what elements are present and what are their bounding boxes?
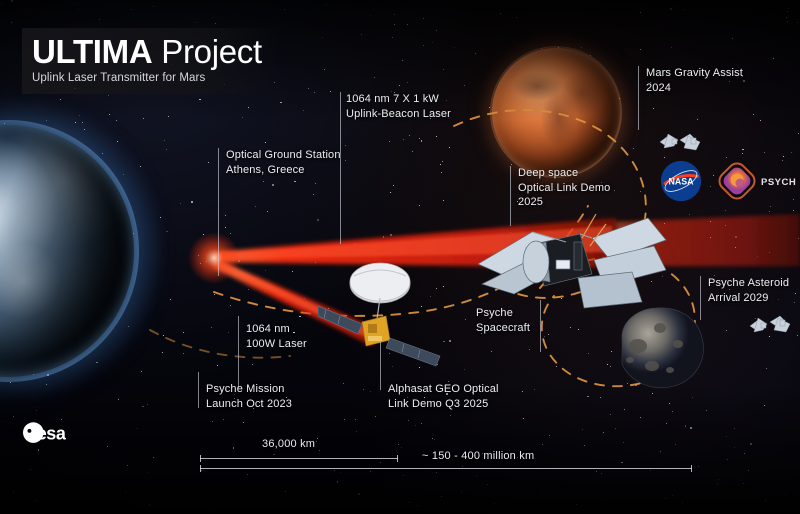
psyche-asteroid-model: [604, 300, 712, 396]
psyche-logo: PSYCHE: [716, 160, 796, 202]
infographic-canvas: ULTIMA Project Uplink Laser Transmitter …: [0, 0, 800, 514]
callout-mars-gravity-assist: Mars Gravity Assist 2024: [646, 66, 743, 95]
leader-optical-ground-station: [218, 148, 219, 276]
title-main-light: Project: [152, 33, 261, 70]
page-subtitle: Uplink Laser Transmitter for Mars: [32, 72, 262, 84]
leader-psyche-mission-launch: [198, 372, 199, 408]
leader-psyche-spacecraft: [540, 300, 541, 352]
callout-psyche-spacecraft: Psyche Spacecraft: [476, 306, 530, 335]
callout-alphasat-geo-demo: Alphasat GEO Optical Link Demo Q3 2025: [388, 382, 499, 411]
nasa-logo: NASA: [660, 160, 702, 202]
leader-psyche-asteroid-arrival: [700, 276, 701, 320]
mars-planet: [492, 48, 620, 176]
esa-logo-text: esa: [37, 423, 67, 443]
callout-psyche-mission-launch: Psyche Mission Launch Oct 2023: [206, 382, 292, 411]
esa-logo: esa: [22, 418, 108, 448]
leader-deep-space-optical-link: [510, 166, 511, 226]
callout-uplink-beacon-laser: 1064 nm 7 X 1 kW Uplink-Beacon Laser: [346, 92, 451, 121]
callout-deep-space-optical-link: Deep space Optical Link Demo 2025: [518, 166, 610, 210]
psyche-logo-text: PSYCHE: [761, 177, 796, 188]
small-spacecraft-icons-asteroid: [748, 308, 796, 342]
mars-limb-glow: [490, 46, 622, 178]
page-title: ULTIMA Project: [32, 34, 262, 70]
callout-psyche-asteroid-arrival: Psyche Asteroid Arrival 2029: [708, 276, 789, 305]
callout-optical-ground-station: Optical Ground Station Athens, Greece: [226, 148, 341, 177]
callout-ground-laser: 1064 nm 100W Laser: [246, 322, 307, 351]
alphasat-satellite-model: [318, 252, 448, 372]
leader-ground-laser: [238, 316, 239, 388]
small-spacecraft-icons-mars: [658, 126, 708, 160]
title-main-bold: ULTIMA: [32, 33, 152, 70]
nasa-logo-text: NASA: [669, 176, 695, 186]
earth-planet: [0, 125, 222, 375]
title-block: ULTIMA Project Uplink Laser Transmitter …: [22, 28, 278, 94]
leader-mars-gravity-assist: [638, 66, 639, 130]
leader-alphasat-geo-demo: [380, 342, 381, 390]
